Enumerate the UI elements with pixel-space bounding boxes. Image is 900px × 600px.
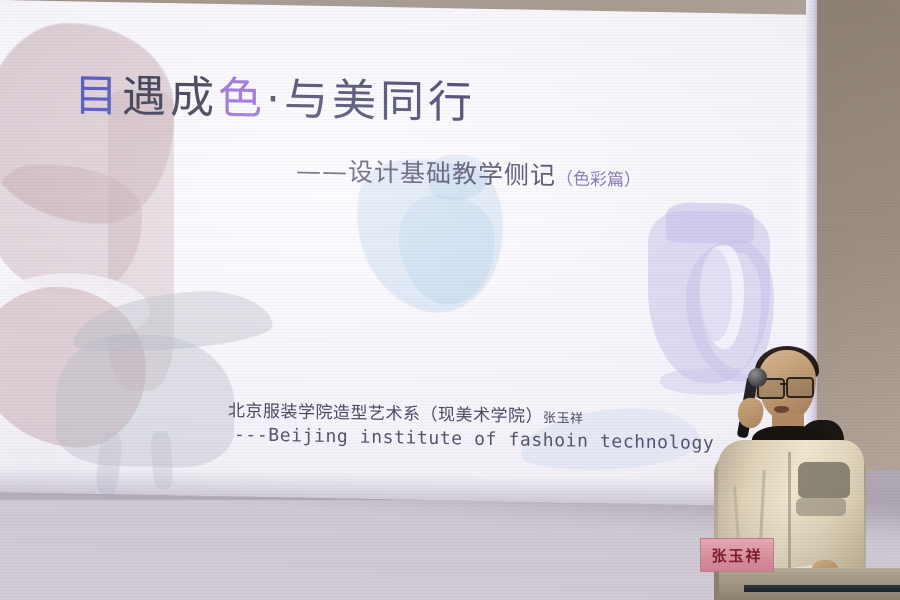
microphone-head-icon bbox=[748, 368, 767, 387]
glasses-bridge bbox=[780, 383, 788, 385]
slide-title: 目遇成色·与美同行 bbox=[74, 73, 476, 127]
purple-vase-base bbox=[660, 368, 756, 396]
slide-subtitle: ——设计基础教学侧记（色彩篇） bbox=[296, 151, 641, 193]
subtitle-dash: —— bbox=[296, 156, 348, 186]
nameplate-text: 张玉祥 bbox=[711, 545, 762, 566]
title-seg-0: 目 bbox=[74, 70, 122, 122]
podium-left-edge bbox=[714, 568, 719, 600]
title-seg-1: 遇成 bbox=[122, 71, 218, 124]
photo-scene: 目遇成色·与美同行 ——设计基础教学侧记（色彩篇） 北京服装学院造型艺术系（现美… bbox=[0, 0, 900, 600]
title-seg-2: 色 bbox=[218, 73, 266, 125]
podium-dark-strip bbox=[744, 585, 900, 592]
speaker-mouth bbox=[774, 406, 789, 413]
credit-speaker-name: 张玉祥 bbox=[543, 411, 584, 427]
subtitle-main: 设计基础教学侧记 bbox=[348, 157, 556, 190]
purple-vase-neck bbox=[666, 202, 754, 244]
slide-credit-chinese: 北京服装学院造型艺术系（现美术学院）张玉祥 bbox=[228, 396, 584, 428]
podium-nameplate: 张玉祥 bbox=[700, 538, 774, 572]
subtitle-paren: （色彩篇） bbox=[556, 169, 641, 191]
credit-institution: 北京服装学院造型艺术系（现美术学院） bbox=[228, 401, 543, 427]
title-seg-3: · bbox=[266, 74, 284, 125]
projection-screen: 目遇成色·与美同行 ——设计基础教学侧记（色彩篇） 北京服装学院造型艺术系（现美… bbox=[0, 0, 816, 507]
purple-vase-highlight bbox=[698, 249, 732, 342]
title-seg-4: 与美同行 bbox=[284, 74, 476, 129]
jacket-shoulder-panel bbox=[798, 462, 850, 498]
glasses-right-lens bbox=[786, 377, 814, 398]
grey-form-body bbox=[56, 333, 234, 468]
